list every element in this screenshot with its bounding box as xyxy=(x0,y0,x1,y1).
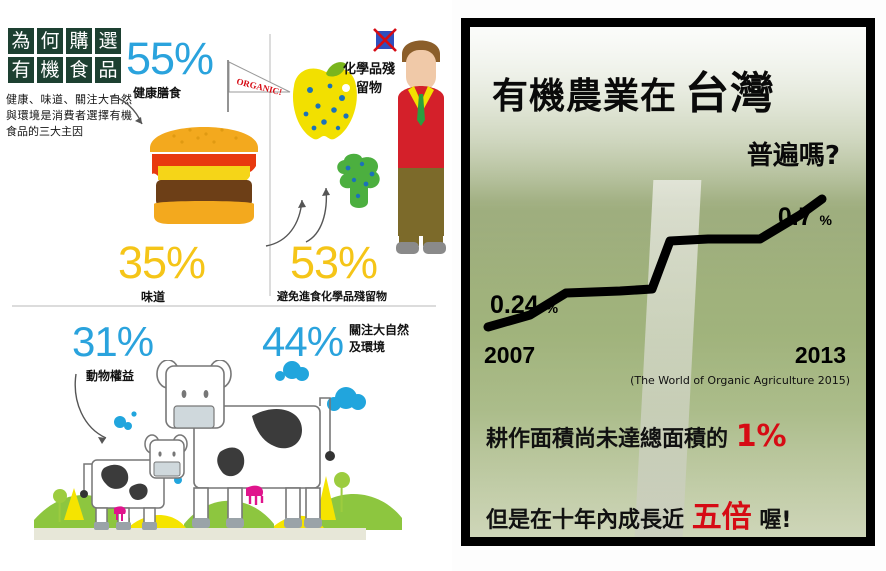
chart-label-start: 0.24 % xyxy=(490,291,558,320)
right-panel-inner: 有機農業在台灣 普遍嗎? 0.24 % 0.7 % 2007 2013 (The… xyxy=(470,27,866,537)
title-char: 品 xyxy=(95,57,121,83)
stat-value-53: 53% xyxy=(290,237,377,289)
bottom-line-1-text: 耕作面積尚未達總面積的 xyxy=(486,427,728,452)
title-char: 為 xyxy=(8,28,34,54)
chart-xtick-2007: 2007 xyxy=(484,342,535,369)
stat-label-53: 避免進食化學品殘留物 xyxy=(277,288,387,304)
arrow-icon xyxy=(108,92,148,134)
title-block: 為 何 購 選 有 機 食 品 xyxy=(8,28,126,86)
cow-small xyxy=(80,435,187,530)
title-row-2: 有 機 食 品 xyxy=(8,57,126,83)
person-icon xyxy=(390,28,452,264)
title-row-1: 為 何 購 選 xyxy=(8,28,126,54)
stat-value-44: 44% xyxy=(262,318,343,366)
title-char: 購 xyxy=(66,28,92,54)
bottom-line-1: 耕作面積尚未達總面積的 1% xyxy=(486,419,787,454)
stat-value-35: 35% xyxy=(118,237,205,289)
title-char: 機 xyxy=(37,57,63,83)
organic-flag-icon: ORGANIC! xyxy=(218,52,296,116)
infographic-canvas: 為 何 購 選 有 機 食 品 健康、味道、關注大自然與環境是消費者選擇有機食品… xyxy=(0,0,886,571)
bottom-line-1-accent: 1% xyxy=(736,419,787,454)
right-title-prefix: 有機農業在 xyxy=(492,76,677,117)
left-panel: 為 何 購 選 有 機 食 品 健康、味道、關注大自然與環境是消費者選擇有機食品… xyxy=(0,0,452,571)
right-panel: 有機農業在台灣 普遍嗎? 0.24 % 0.7 % 2007 2013 (The… xyxy=(461,18,875,546)
chart-label-end: 0.7 % xyxy=(778,203,832,232)
title-char: 有 xyxy=(8,57,34,83)
right-title-highlight: 台灣 xyxy=(685,68,775,119)
stat-label-35: 味道 xyxy=(141,288,165,305)
bottom-line-2-accent: 五倍 xyxy=(692,500,752,535)
right-subtitle: 普遍嗎? xyxy=(747,135,840,172)
bottom-line-2-suffix: 喔! xyxy=(759,508,791,533)
cows-illustration xyxy=(34,360,434,550)
burger-icon xyxy=(134,104,274,234)
stat-label-44: 關注大自然 及環境 xyxy=(349,322,409,356)
title-char: 選 xyxy=(95,28,121,54)
chart-xtick-2013: 2013 xyxy=(795,342,846,369)
horizontal-divider xyxy=(12,305,436,307)
broccoli-icon xyxy=(330,152,388,214)
right-title: 有機農業在台灣 xyxy=(492,57,775,121)
bottom-line-2-text: 但是在十年內成長近 xyxy=(486,508,684,533)
chart-source: (The World of Organic Agriculture 2015) xyxy=(630,374,850,387)
title-char: 何 xyxy=(37,28,63,54)
stat-value-55: 55% xyxy=(126,33,213,85)
stat-value-31: 31% xyxy=(72,318,153,366)
title-char: 食 xyxy=(66,57,92,83)
bottom-line-2: 但是在十年內成長近 五倍 喔! xyxy=(486,492,791,536)
